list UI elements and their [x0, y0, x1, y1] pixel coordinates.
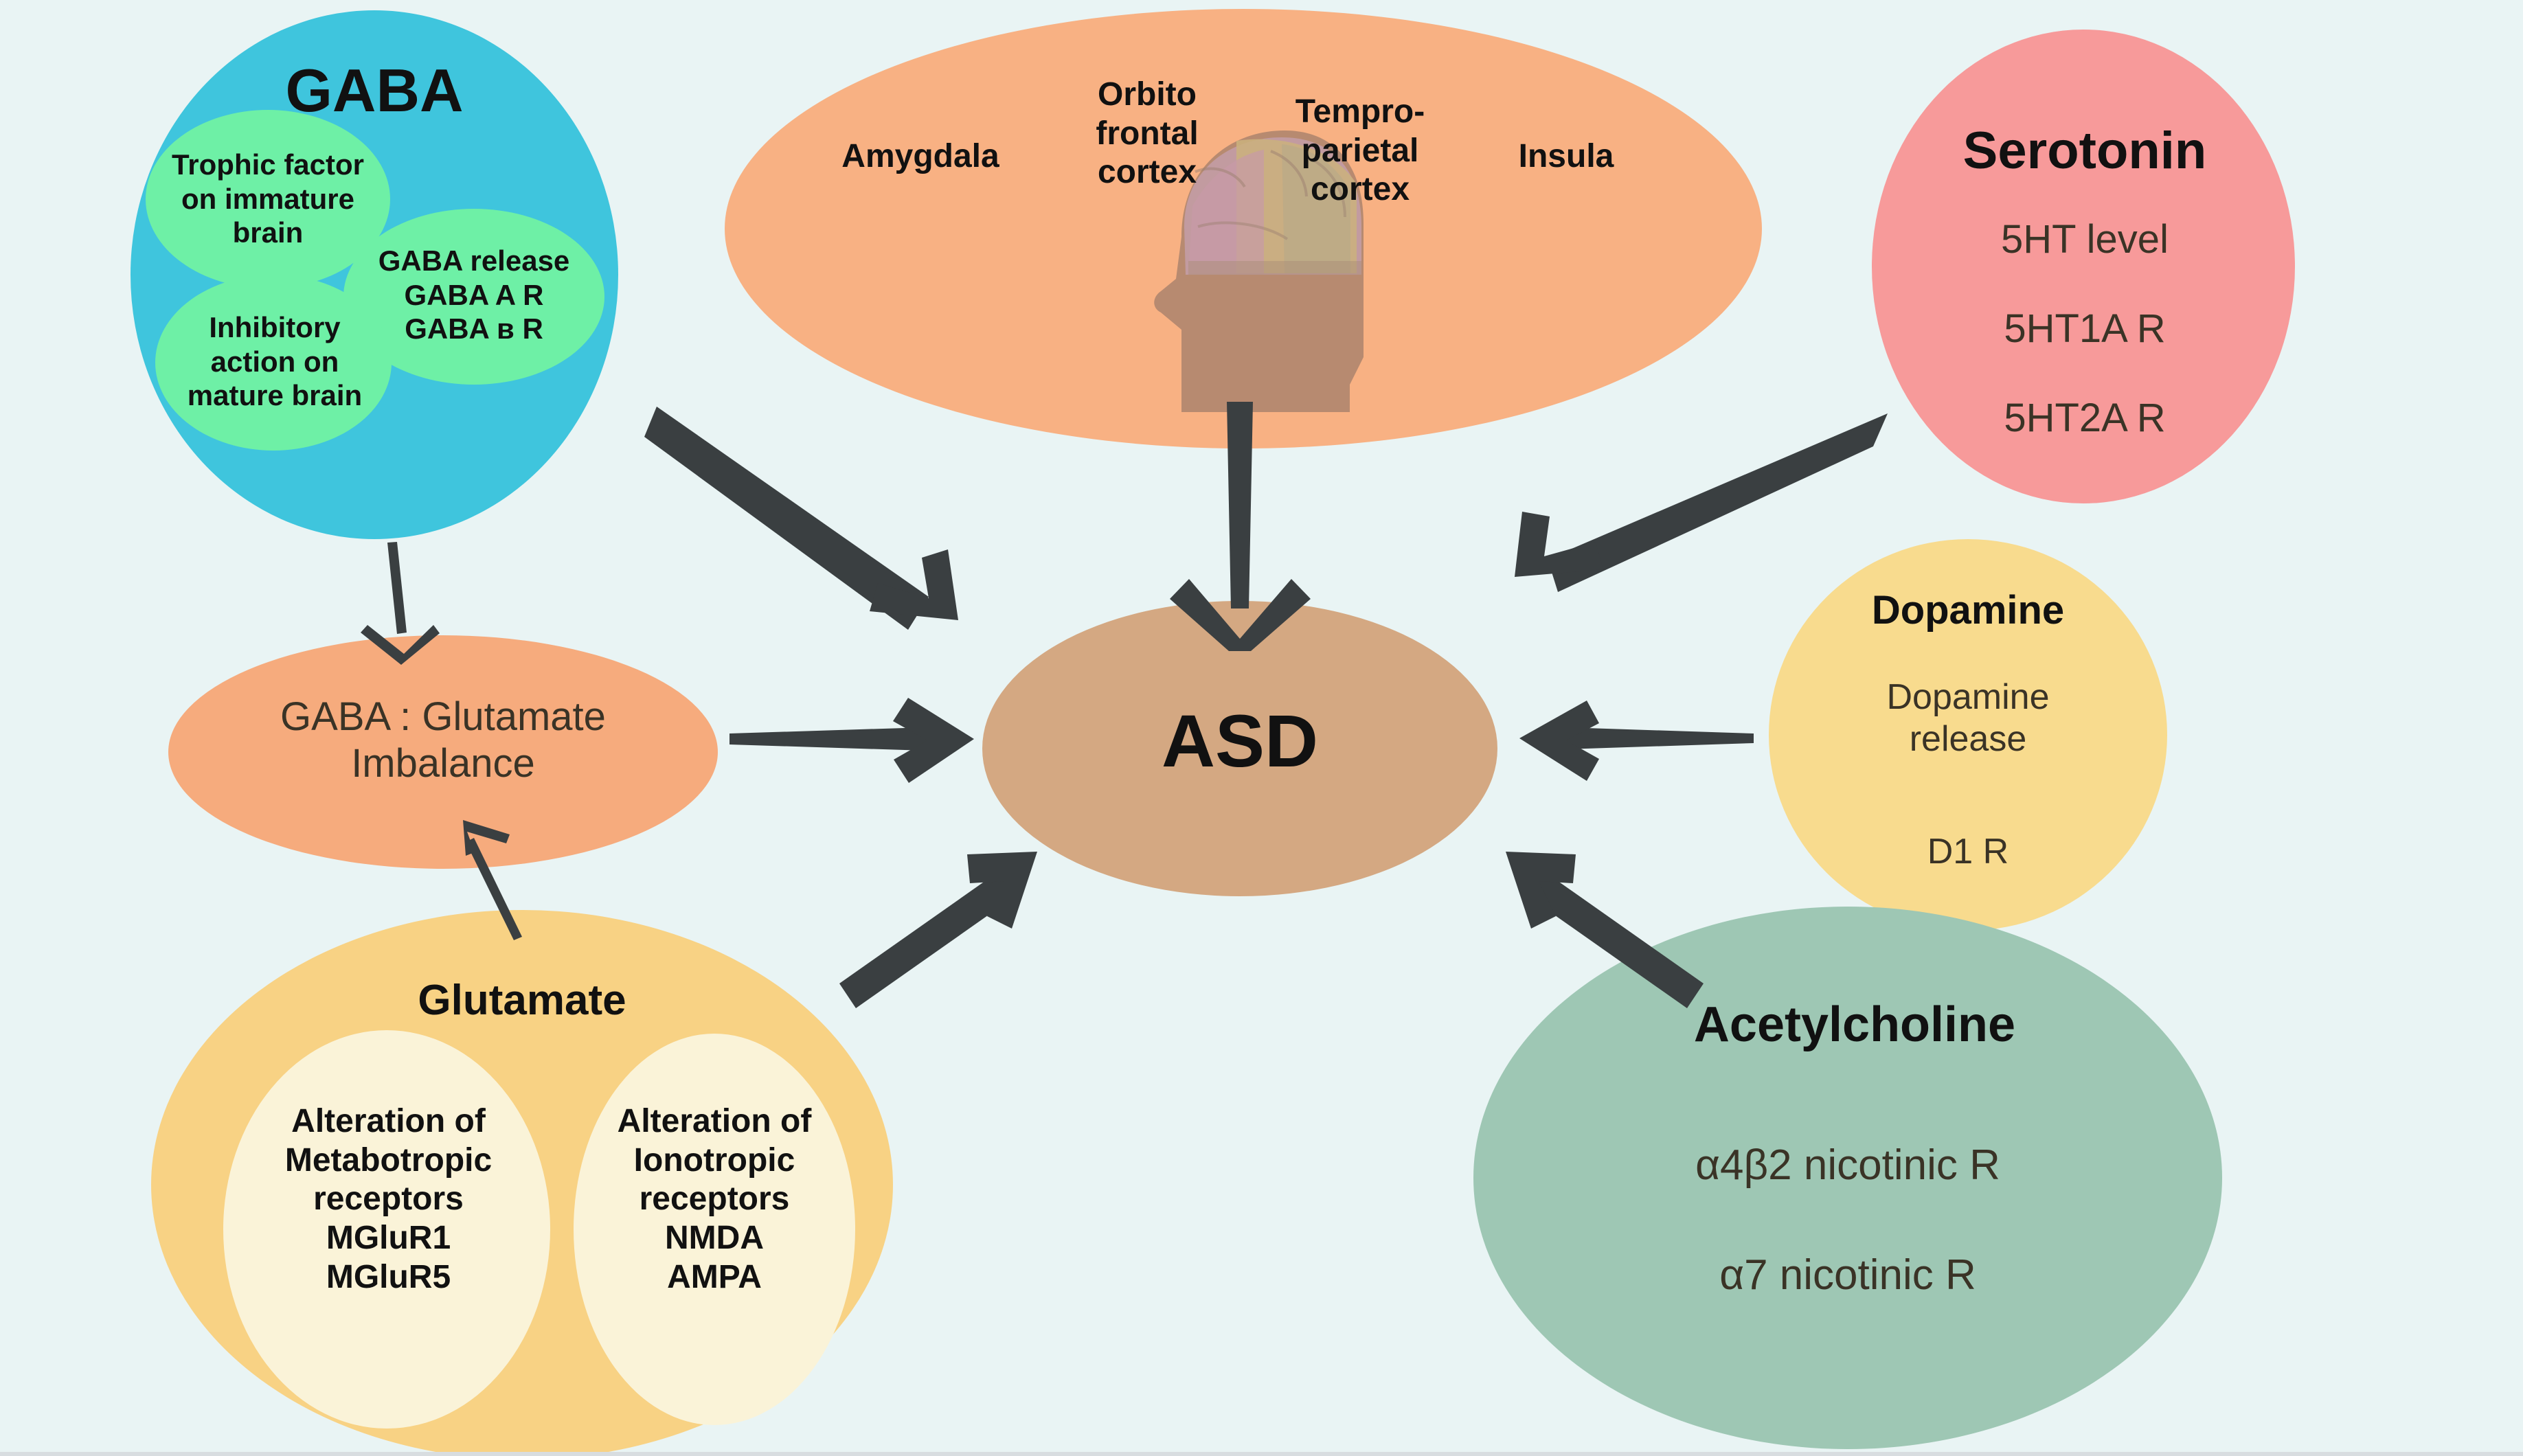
node-glutamate-metabotropic-shape[interactable] [223, 1030, 550, 1429]
edge-gaba-to-asd [644, 407, 958, 630]
node-glutamate-ionotropic-shape[interactable] [574, 1034, 855, 1425]
edge-serotonin-to-asd [1515, 413, 1888, 592]
node-dopamine-shape[interactable] [1769, 539, 2167, 931]
diagram-canvas: GABA Trophic factor on immature brain GA… [0, 0, 2523, 1456]
node-gaba-trophic-shape[interactable] [146, 110, 390, 288]
node-acetylcholine-shape[interactable] [1473, 907, 2222, 1449]
node-gaba-inhibitory-shape[interactable] [155, 275, 392, 451]
edge-imbalance-to-asd [729, 698, 974, 783]
node-serotonin-shape[interactable] [1872, 30, 2295, 503]
edge-dopamine-to-asd [1519, 701, 1754, 781]
node-imbalance-shape[interactable] [168, 635, 718, 869]
diagram-shapes [0, 0, 2523, 1456]
edge-glutamate-to-asd [839, 852, 1037, 1008]
